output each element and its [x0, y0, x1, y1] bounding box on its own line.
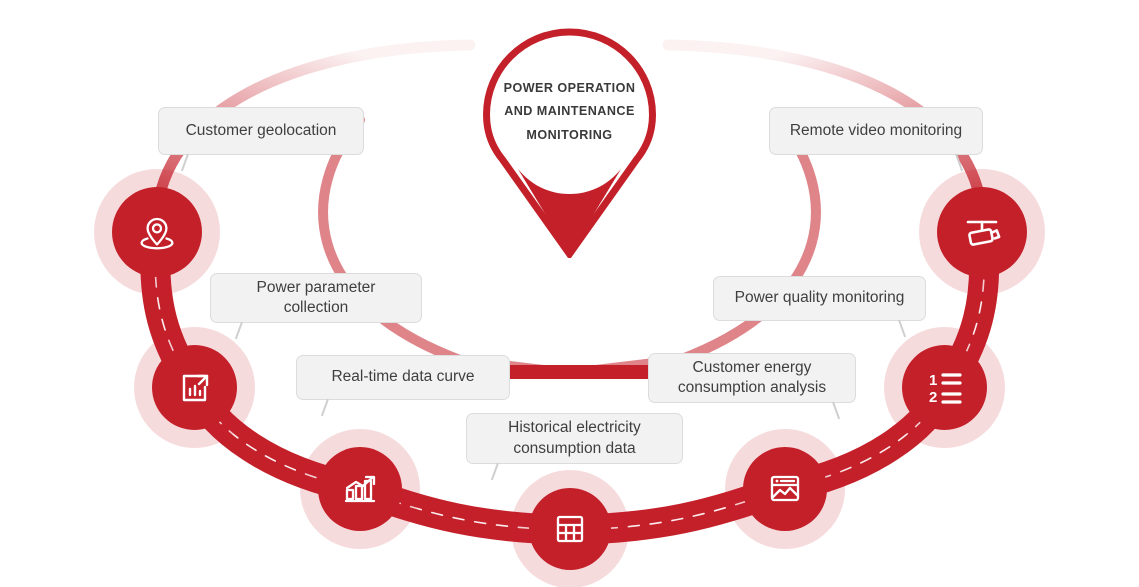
label-customer-geolocation[interactable]: Customer geolocation	[158, 107, 364, 155]
location-pin-icon	[133, 208, 181, 256]
diagram-canvas: 1 2	[0, 0, 1139, 587]
label-text-line1: Historical electricity	[508, 418, 641, 438]
chart-window-icon	[762, 466, 808, 512]
node-numbered-list[interactable]: 1 2	[902, 345, 987, 430]
label-customer-energy-analysis[interactable]: Customer energy consumption analysis	[648, 353, 856, 403]
label-text-line2: consumption data	[513, 439, 635, 459]
label-text: Customer geolocation	[186, 121, 337, 141]
cctv-camera-icon	[957, 207, 1007, 257]
svg-text:2: 2	[929, 389, 937, 406]
label-power-parameter-collection[interactable]: Power parameter collection	[210, 273, 422, 323]
label-text: Power quality monitoring	[735, 288, 905, 308]
label-text: Remote video monitoring	[790, 121, 962, 141]
node-remote-video-monitoring[interactable]	[937, 187, 1027, 277]
label-text-line2: consumption analysis	[678, 378, 826, 398]
node-table[interactable]	[529, 488, 611, 570]
svg-text:1: 1	[929, 372, 937, 389]
table-grid-icon	[548, 507, 592, 551]
bar-chart-arrow-icon	[172, 365, 218, 411]
node-customer-energy-analysis[interactable]	[743, 447, 827, 531]
node-customer-geolocation[interactable]	[112, 187, 202, 277]
node-historical-data[interactable]	[318, 447, 402, 531]
node-power-parameter-collection[interactable]	[152, 345, 237, 430]
numbered-list-icon: 1 2	[921, 365, 969, 411]
label-remote-video-monitoring[interactable]: Remote video monitoring	[769, 107, 983, 155]
label-text-line1: Power parameter	[257, 278, 376, 298]
label-power-quality-monitoring[interactable]: Power quality monitoring	[713, 276, 926, 321]
growth-chart-icon	[337, 466, 383, 512]
label-text-line1: Customer energy	[693, 358, 812, 378]
label-text-line2: collection	[284, 298, 349, 318]
center-line-3: MONITORING	[526, 124, 612, 147]
center-pin-badge: POWER OPERATION AND MAINTENANCE MONITORI…	[480, 28, 659, 258]
center-line-2: AND MAINTENANCE	[504, 100, 635, 123]
center-line-1: POWER OPERATION	[504, 77, 636, 100]
label-text: Real-time data curve	[331, 367, 474, 387]
label-historical-electricity-data[interactable]: Historical electricity consumption data	[466, 413, 683, 464]
label-real-time-data-curve[interactable]: Real-time data curve	[296, 355, 510, 400]
